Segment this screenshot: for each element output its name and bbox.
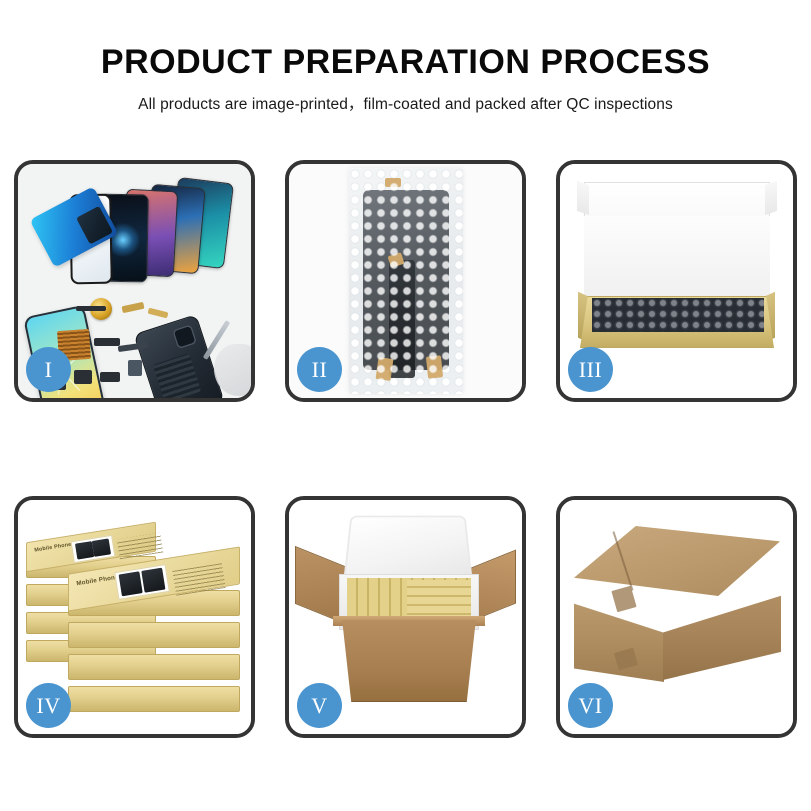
flex-cable-part: [128, 360, 142, 376]
flex-cable-part: [100, 372, 120, 382]
gold-box-slab: [68, 654, 240, 680]
step-card-1[interactable]: I: [14, 160, 255, 402]
step-badge-5: V: [297, 683, 342, 728]
step-badge-4: IV: [26, 683, 71, 728]
step-badge-2: II: [297, 347, 342, 392]
step-card-4[interactable]: Mobile Phone Spare Parts Mobile Phone Sp…: [14, 496, 255, 738]
step-card-3[interactable]: III: [556, 160, 797, 402]
step-badge-1: I: [26, 347, 71, 392]
bubble-texture-overlay: [349, 168, 463, 394]
carton-body: [333, 620, 485, 702]
process-steps-grid: I II: [14, 160, 797, 738]
flex-cable-part: [74, 370, 92, 384]
bubble-wrap-bag: [349, 168, 463, 394]
carton-top-face: [574, 526, 780, 596]
foam-lid: [343, 516, 473, 583]
phone-display-lineup-icon: [36, 178, 241, 298]
step-badge-6: VI: [568, 683, 613, 728]
gold-box-slab: [68, 686, 240, 712]
flex-cable-part: [148, 308, 169, 319]
page-subtitle: All products are image-printed，film-coat…: [0, 92, 811, 114]
product-preparation-infographic: PRODUCT PREPARATION PROCESS All products…: [0, 0, 811, 811]
step-card-6[interactable]: VI: [556, 496, 797, 738]
step-badge-3: III: [568, 347, 613, 392]
bubble-wrapped-contents: [592, 298, 764, 332]
step-card-2[interactable]: II: [285, 160, 526, 402]
flex-cable-part: [122, 302, 145, 313]
flex-cable-part: [76, 306, 106, 311]
white-foam-backing: [584, 216, 770, 298]
phone-back-housing: [133, 314, 224, 398]
flex-cable-part: [94, 338, 120, 346]
gold-box-slab: [68, 622, 240, 648]
page-title: PRODUCT PREPARATION PROCESS: [0, 44, 811, 81]
header: PRODUCT PREPARATION PROCESS All products…: [0, 0, 811, 114]
step-card-5[interactable]: V: [285, 496, 526, 738]
